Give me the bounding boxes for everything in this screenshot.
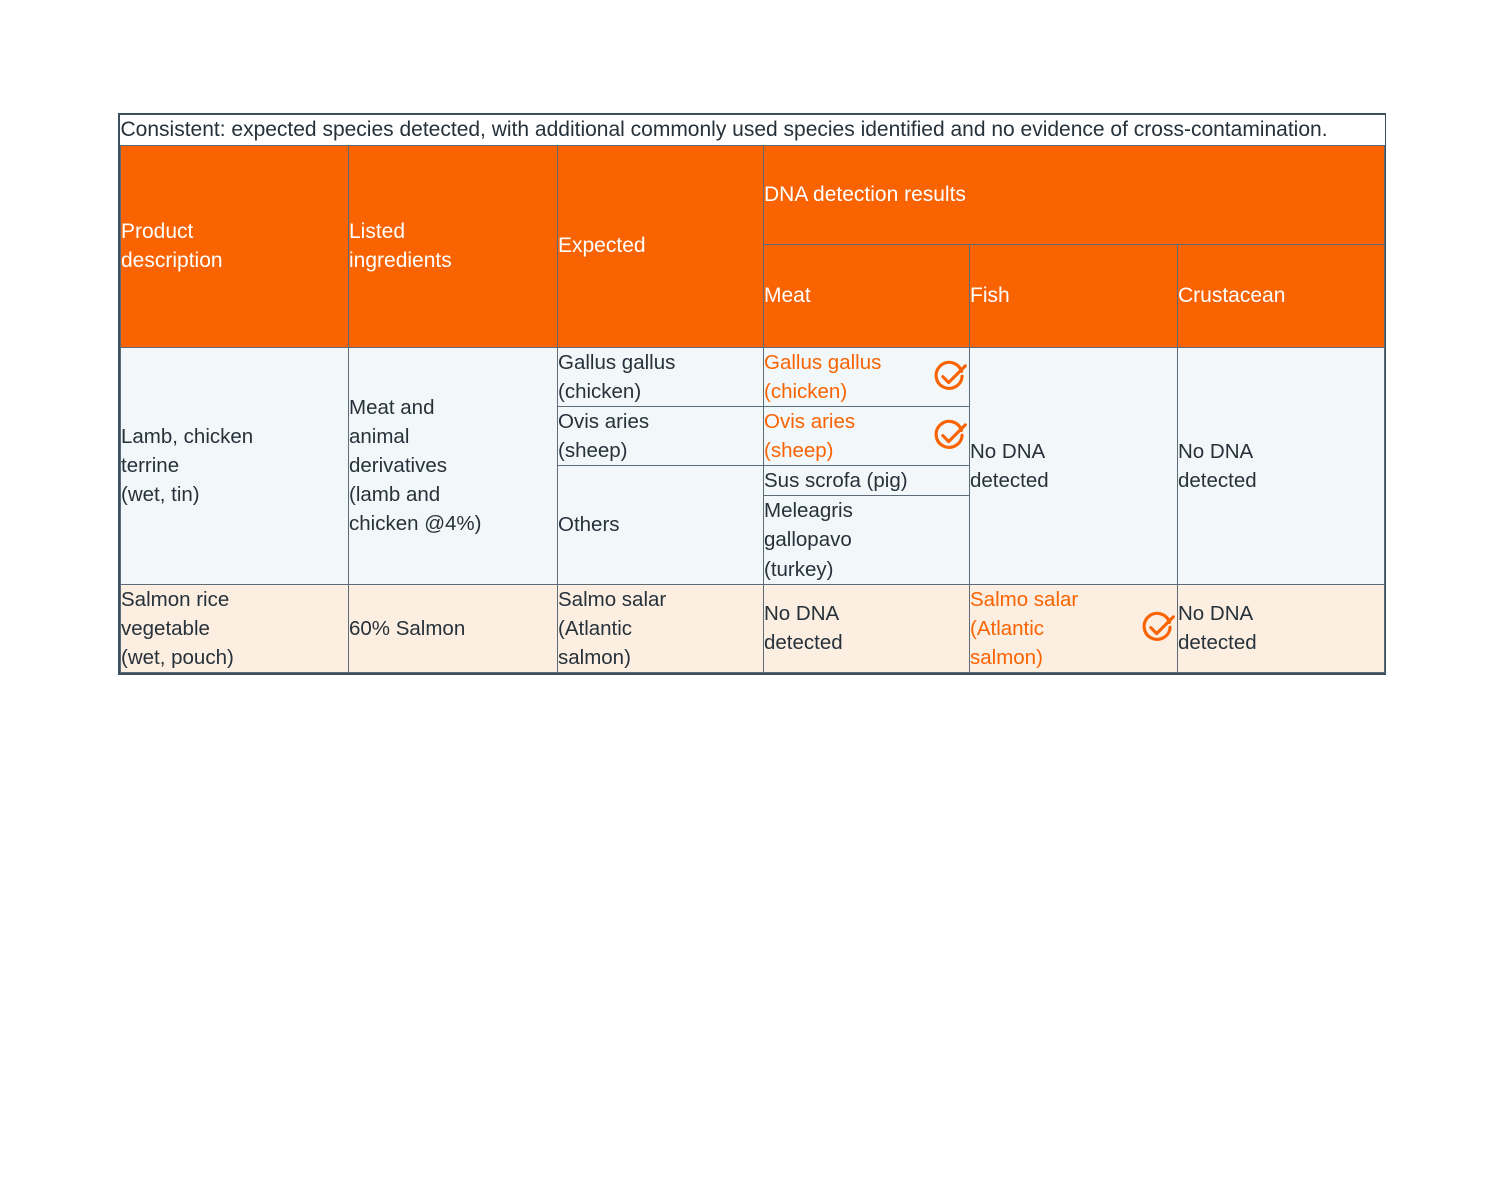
check-circle-icon	[931, 358, 969, 396]
cell-crustacean-result: No DNAdetected	[1178, 347, 1385, 584]
cell-meat-result: Sus scrofa (pig)	[764, 466, 970, 496]
cell-expected-species: Gallus gallus(chicken)	[558, 347, 764, 406]
column-header-product-line1: Product	[121, 220, 193, 243]
cell-product-description: Lamb, chickenterrine(wet, tin)	[121, 347, 349, 584]
column-header-crustacean: Crustacean	[1178, 244, 1385, 347]
check-circle-icon	[1139, 609, 1177, 647]
cell-expected-species-others: Others	[558, 466, 764, 584]
check-circle-icon	[931, 417, 969, 455]
table-row: Lamb, chickenterrine(wet, tin) Meat anda…	[121, 347, 1385, 406]
cell-listed-ingredients: Meat andanimalderivatives(lamb andchicke…	[349, 347, 558, 584]
cell-listed-ingredients: 60% Salmon	[349, 584, 558, 672]
cell-meat-result: Ovis aries(sheep)	[764, 407, 970, 466]
table-row: Salmon ricevegetable(wet, pouch) 60% Sal…	[121, 584, 1385, 672]
cell-meat-result: No DNAdetected	[764, 584, 970, 672]
meat-detected-species: Gallus gallus(chicken)	[764, 348, 881, 406]
dna-results-table: Consistent: expected species detected, w…	[120, 115, 1385, 673]
column-header-product-description: Product description	[121, 145, 349, 347]
column-header-group-dna-detection-results: DNA detection results	[764, 145, 1385, 244]
page-root: Consistent: expected species detected, w…	[0, 0, 1504, 1200]
cell-product-description: Salmon ricevegetable(wet, pouch)	[121, 584, 349, 672]
column-header-listed-ingredients: Listed ingredients	[349, 145, 558, 347]
meat-detected-species: Ovis aries(sheep)	[764, 407, 855, 465]
column-header-ingredients-line2: ingredients	[349, 249, 452, 272]
table-note-row: Consistent: expected species detected, w…	[121, 115, 1385, 145]
column-header-fish: Fish	[970, 244, 1178, 347]
cell-fish-result: No DNAdetected	[970, 347, 1178, 584]
column-header-ingredients-line1: Listed	[349, 220, 405, 243]
column-header-meat: Meat	[764, 244, 970, 347]
consistency-note: Consistent: expected species detected, w…	[121, 115, 1385, 145]
cell-crustacean-result: No DNAdetected	[1178, 584, 1385, 672]
cell-expected-species: Salmo salar(Atlanticsalmon)	[558, 584, 764, 672]
table-header-row-primary: Product description Listed ingredients E…	[121, 145, 1385, 244]
column-header-expected: Expected	[558, 145, 764, 347]
cell-fish-result: Salmo salar(Atlanticsalmon)	[970, 584, 1178, 672]
dna-results-table-container: Consistent: expected species detected, w…	[118, 113, 1386, 675]
cell-meat-result: Gallus gallus(chicken)	[764, 347, 970, 406]
fish-detected-species: Salmo salar(Atlanticsalmon)	[970, 585, 1078, 672]
cell-expected-species: Ovis aries(sheep)	[558, 407, 764, 466]
column-header-product-line2: description	[121, 249, 223, 272]
cell-meat-result: Meleagrisgallopavo(turkey)	[764, 496, 970, 584]
